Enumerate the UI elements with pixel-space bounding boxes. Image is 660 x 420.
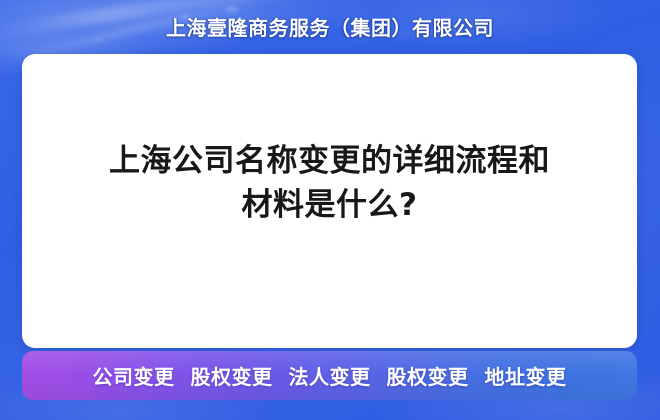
content-card-inner: 上海公司名称变更的详细流程和材料是什么?: [22, 54, 637, 348]
tag-bar: 公司变更 股权变更 法人变更 股权变更 地址变更: [22, 351, 637, 400]
tag-item[interactable]: 公司变更: [93, 361, 175, 390]
content-card: 上海公司名称变更的详细流程和材料是什么?: [22, 54, 637, 348]
tag-item[interactable]: 地址变更: [485, 361, 567, 390]
tag-list: 公司变更 股权变更 法人变更 股权变更 地址变更: [93, 361, 567, 390]
poster-root: 上海壹隆商务服务（集团）有限公司 上海公司名称变更的详细流程和材料是什么? 公司…: [0, 0, 660, 420]
tag-item[interactable]: 股权变更: [191, 361, 273, 390]
company-name-title: 上海壹隆商务服务（集团）有限公司: [166, 12, 494, 41]
header-bar: 上海壹隆商务服务（集团）有限公司: [0, 0, 660, 52]
tag-item[interactable]: 股权变更: [387, 361, 469, 390]
tag-item[interactable]: 法人变更: [289, 361, 371, 390]
page-title-line-2: 材料是什么?: [109, 183, 550, 227]
page-title: 上海公司名称变更的详细流程和材料是什么?: [109, 139, 550, 227]
page-title-line-1: 上海公司名称变更的详细流程和: [109, 139, 550, 183]
